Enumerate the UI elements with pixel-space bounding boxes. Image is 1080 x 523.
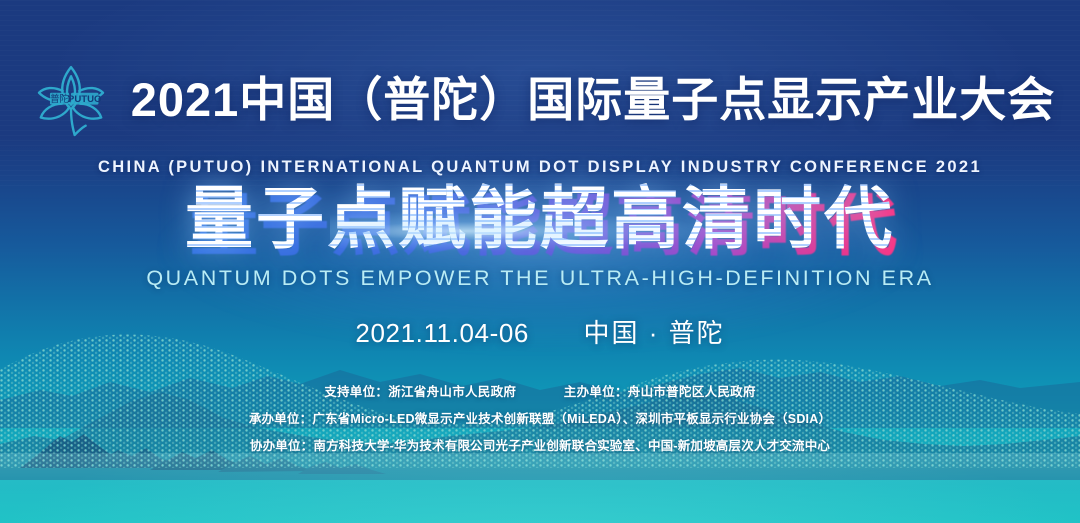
conference-date: 2021.11.04-06	[355, 318, 529, 348]
title-row: 普陀 PUTUO 2021中国（普陀）国际量子点显示产业大会	[0, 56, 1080, 144]
water-reflection	[0, 453, 1080, 523]
lotus-flower-logo-icon: 普陀 PUTUO	[25, 58, 117, 144]
slogan-cn: 量子点赋能超高清时代 量子点赋能超高清时代	[185, 186, 895, 254]
page-title: 2021中国（普陀）国际量子点显示产业大会	[131, 75, 1056, 124]
slogan-main-text: 量子点赋能超高清时代	[185, 180, 895, 259]
date-location-bar: 2021.11.04-06 中国 · 普陀	[0, 313, 1080, 350]
conference-poster: 普陀 PUTUO 2021中国（普陀）国际量子点显示产业大会 CHINA (PU…	[0, 0, 1080, 523]
host-unit-label: 主办单位：舟山市普陀区人民政府	[564, 385, 756, 399]
slogan-block: 量子点赋能超高清时代 量子点赋能超高清时代	[0, 186, 1080, 254]
page-subtitle-en: CHINA (PUTUO) INTERNATIONAL QUANTUM DOT …	[0, 158, 1080, 177]
organizer-unit-label: 承办单位：广东省Micro-LED微显示产业技术创新联盟（MiLEDA）、深圳市…	[0, 408, 1080, 427]
slogan-en: QUANTUM DOTS EMPOWER THE ULTRA-HIGH-DEFI…	[0, 266, 1080, 291]
logo-text-en: PUTUO	[68, 94, 102, 105]
coorganizer-unit-label: 协办单位：南方科技大学-华为技术有限公司光子产业创新联合实验室、中国-新加坡高层…	[0, 435, 1080, 454]
organizer-credits: 支持单位：浙江省舟山市人民政府 主办单位：舟山市普陀区人民政府 承办单位：广东省…	[0, 381, 1080, 454]
credit-line-support-host: 支持单位：浙江省舟山市人民政府 主办单位：舟山市普陀区人民政府	[0, 381, 1080, 400]
conference-location: 中国 · 普陀	[583, 318, 724, 348]
support-unit-label: 支持单位：浙江省舟山市人民政府	[324, 385, 516, 399]
logo-text-cn: 普陀	[50, 93, 70, 105]
poster-header: 普陀 PUTUO 2021中国（普陀）国际量子点显示产业大会 CHINA (PU…	[0, 56, 1080, 177]
